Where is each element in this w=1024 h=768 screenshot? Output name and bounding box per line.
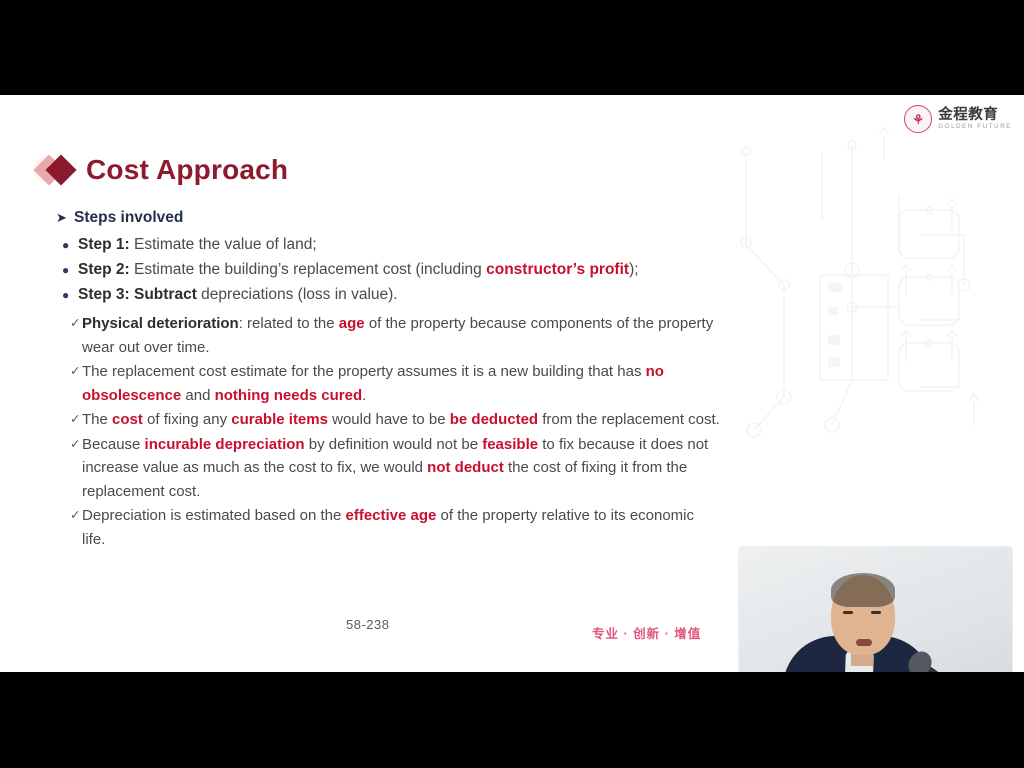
detail-text-4: Because incurable depreciation by defini…	[82, 433, 720, 504]
list-item: ● Step 1: Estimate the value of land;	[48, 233, 720, 257]
detail-text-3: The cost of fixing any curable items wou…	[82, 408, 720, 432]
detail-text-1: Physical deterioration: related to the a…	[82, 312, 720, 359]
brand-name-en: GOLDEN FUTURE	[938, 124, 1012, 130]
slide-page-number: 58-238	[346, 617, 389, 632]
video-player-viewport: ⚘ 金程教育 GOLDEN FUTURE Cost Approach ➤ Ste…	[0, 0, 1024, 768]
letterbox-bar-top	[0, 0, 1024, 95]
step-1-body: Estimate the value of land;	[134, 236, 317, 253]
brand-name-cn: 金程教育	[938, 108, 1012, 123]
check-bullet-icon: ✓	[48, 433, 82, 457]
golden-future-seal-icon: ⚘	[904, 105, 932, 133]
lecturer-eye-right	[871, 611, 881, 614]
disc-bullet-icon: ●	[48, 283, 78, 307]
lecturer-video-overlay[interactable]	[739, 547, 1012, 672]
list-item: ✓ Depreciation is estimated based on the…	[48, 504, 720, 551]
list-item: ● Step 3: Subtract depreciations (loss i…	[48, 283, 720, 307]
check-bullet-icon: ✓	[48, 408, 82, 432]
step-2-text: Step 2: Estimate the building’s replacem…	[78, 258, 720, 282]
step-2-highlight: constructor’s profit	[486, 261, 629, 278]
list-item: ✓ The replacement cost estimate for the …	[48, 360, 720, 407]
step-3-label: Step 3: Subtract	[78, 286, 197, 303]
page-title: Cost Approach	[86, 154, 288, 186]
disc-bullet-icon: ●	[48, 258, 78, 282]
letterbox-bar-bottom	[0, 672, 1024, 768]
list-item: ● Step 2: Estimate the building’s replac…	[48, 258, 720, 282]
step-2-body-after: );	[629, 261, 638, 278]
slide-title-row: Cost Approach	[36, 153, 288, 187]
brand-logo: ⚘ 金程教育 GOLDEN FUTURE	[904, 105, 1012, 133]
presentation-slide: ⚘ 金程教育 GOLDEN FUTURE Cost Approach ➤ Ste…	[0, 95, 1024, 672]
flowchart-watermark-icon	[724, 125, 1024, 455]
detail-text-2: The replacement cost estimate for the pr…	[82, 360, 720, 407]
step-1-text: Step 1: Estimate the value of land;	[78, 233, 720, 257]
disc-bullet-icon: ●	[48, 233, 78, 257]
check-bullet-icon: ✓	[48, 504, 82, 528]
brand-slogan: 专业 · 创新 · 增值	[592, 623, 701, 642]
check-bullet-icon: ✓	[48, 360, 82, 384]
step-2-label: Step 2:	[78, 261, 130, 278]
lecturer-eye-left	[843, 611, 853, 614]
step-3-text: Step 3: Subtract depreciations (loss in …	[78, 283, 720, 307]
step-1-label: Step 1:	[78, 236, 130, 253]
double-diamond-icon	[36, 153, 82, 187]
step-2-body-before: Estimate the building’s replacement cost…	[134, 261, 486, 278]
list-item: ✓ Physical deterioration: related to the…	[48, 312, 720, 359]
list-item: ✓ The cost of fixing any curable items w…	[48, 408, 720, 432]
arrow-bullet-icon: ➤	[48, 207, 74, 229]
lecturer-mouth	[856, 639, 872, 646]
outline-heading: ➤ Steps involved	[48, 207, 720, 229]
outline-heading-label: Steps involved	[74, 207, 183, 229]
lecturer-hair	[831, 573, 895, 607]
check-bullet-icon: ✓	[48, 312, 82, 336]
brand-logo-text: 金程教育 GOLDEN FUTURE	[938, 108, 1012, 131]
detail-list: ✓ Physical deterioration: related to the…	[48, 312, 720, 551]
list-item: ✓ Because incurable depreciation by defi…	[48, 433, 720, 504]
detail-text-5: Depreciation is estimated based on the e…	[82, 504, 720, 551]
step-3-body: depreciations (loss in value).	[197, 286, 398, 303]
slide-body: ➤ Steps involved ● Step 1: Estimate the …	[48, 207, 720, 552]
